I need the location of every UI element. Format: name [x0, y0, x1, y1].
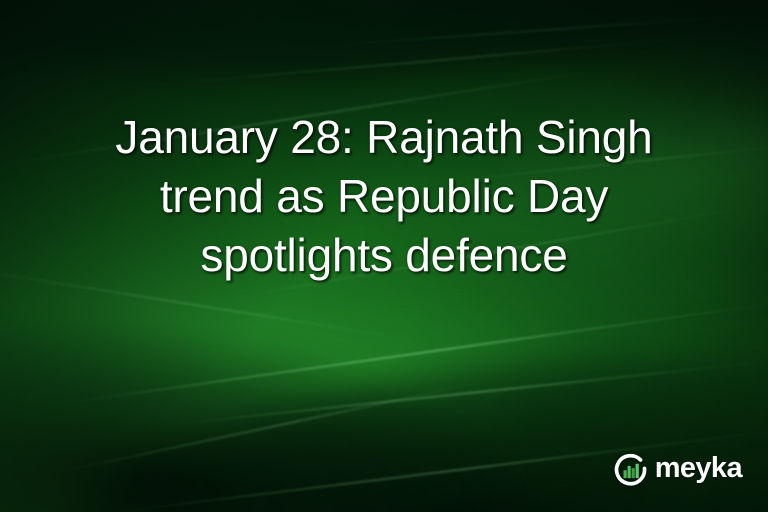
news-card: January 28: Rajnath Singh trend as Repub…	[0, 0, 768, 512]
brand-wordmark: meyka	[655, 454, 742, 483]
headline-text: January 28: Rajnath Singh trend as Repub…	[0, 108, 768, 285]
brand-logo: meyka	[613, 451, 742, 486]
circular-bar-chart-icon	[613, 451, 648, 486]
